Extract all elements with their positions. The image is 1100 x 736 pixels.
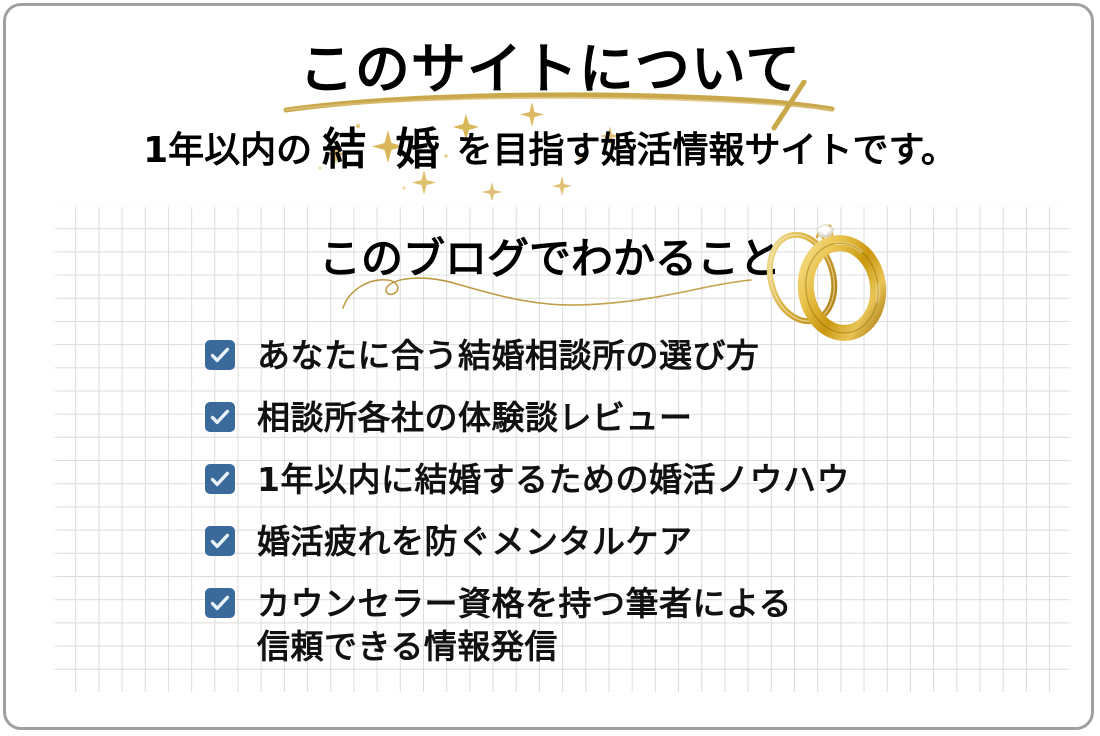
list-item[interactable]: あなたに合う結婚相談所の選び方	[205, 334, 965, 377]
checkbox-checked-icon[interactable]	[205, 588, 235, 618]
list-item-label: 相談所各社の体験談レビュー	[257, 396, 693, 439]
checkbox-checked-icon[interactable]	[205, 526, 235, 556]
list-item-label: あなたに合う結婚相談所の選び方	[257, 334, 760, 377]
list-item[interactable]: 婚活疲れを防ぐメンタルケア	[205, 520, 965, 563]
list-item[interactable]: 1年以内に結婚するための婚活ノウハウ	[205, 458, 965, 501]
header-section: このサイトについて	[0, 0, 1100, 200]
list-item-label: カウンセラー資格を持つ筆者による 信頼できる情報発信	[257, 582, 792, 668]
benefits-checklist: あなたに合う結婚相談所の選び方 相談所各社の体験談レビュー 1年以内に結婚するた…	[205, 334, 965, 668]
list-item-label: 婚活疲れを防ぐメンタルケア	[257, 520, 693, 563]
list-item-label: 1年以内に結婚するための婚活ノウハウ	[257, 458, 850, 501]
about-site-card: このサイトについて	[0, 0, 1100, 736]
checkbox-checked-icon[interactable]	[205, 464, 235, 494]
checkbox-checked-icon[interactable]	[205, 402, 235, 432]
checkbox-checked-icon[interactable]	[205, 340, 235, 370]
section-heading: このブログでわかること	[0, 233, 1100, 285]
subtitle-highlight: 結 婚	[312, 124, 456, 175]
page-title: このサイトについて	[0, 37, 1100, 101]
list-item[interactable]: カウンセラー資格を持つ筆者による 信頼できる情報発信	[205, 582, 965, 668]
subtitle-suffix: を目指す婚活情報サイトです。	[456, 130, 956, 171]
subtitle-prefix: 1年以内の	[143, 130, 312, 171]
list-item[interactable]: 相談所各社の体験談レビュー	[205, 396, 965, 439]
subtitle: 1年以内の結 婚を目指す婚活情報サイトです。	[0, 124, 1100, 177]
